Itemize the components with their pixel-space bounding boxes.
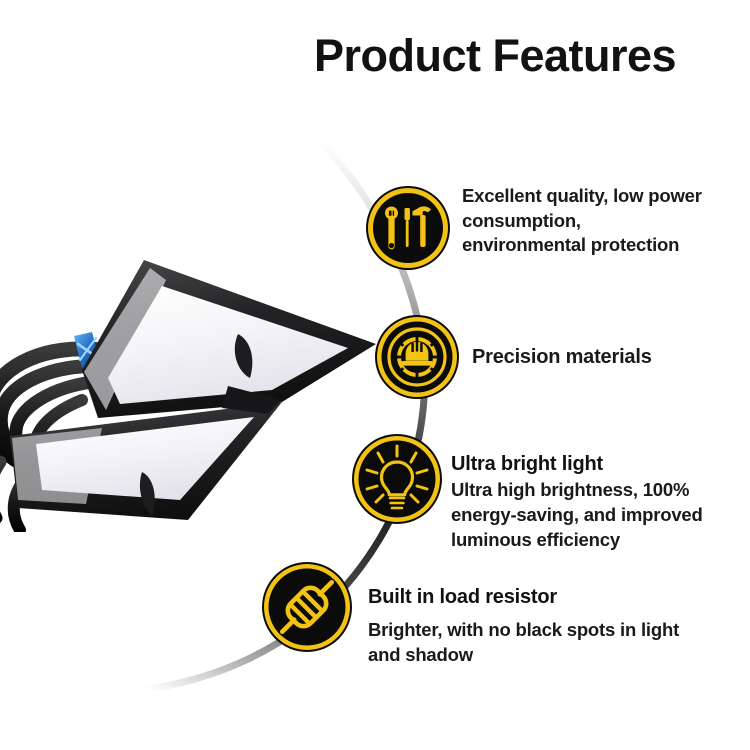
infographic-canvas: Product Features	[0, 0, 750, 750]
feature-body-line: Brighter, with no black spots in light	[368, 618, 698, 643]
feature-body-line: environmental protection	[462, 233, 714, 258]
page-title: Product Features	[285, 32, 705, 79]
feature-body-line: consumption,	[462, 209, 714, 234]
tools-icon	[366, 186, 450, 270]
feature-body-line: energy-saving, and improved	[451, 503, 729, 528]
feature-body-line: and shadow	[368, 643, 698, 668]
feature-text-quality: Excellent quality, low power consumption…	[462, 184, 714, 258]
feature-body-line: luminous efficiency	[451, 528, 729, 553]
feature-text-brightness: Ultra bright light Ultra high brightness…	[451, 452, 729, 552]
feature-body-line: Ultra high brightness, 100%	[451, 478, 729, 503]
feature-heading: Built in load resistor	[368, 585, 698, 609]
feature-body-line: Excellent quality, low power	[462, 184, 714, 209]
feature-text-materials: Precision materials	[472, 344, 722, 371]
feature-heading: Ultra bright light	[451, 452, 729, 476]
feature-text-resistor: Built in load resistor Brighter, with no…	[368, 585, 698, 668]
hard-hat-gear-icon	[375, 315, 459, 399]
feature-body-line: Precision materials	[472, 344, 722, 371]
product-photo	[0, 232, 382, 532]
resistor-icon	[262, 562, 352, 652]
led-lamp-upper	[82, 260, 376, 418]
light-bulb-icon	[352, 434, 442, 524]
